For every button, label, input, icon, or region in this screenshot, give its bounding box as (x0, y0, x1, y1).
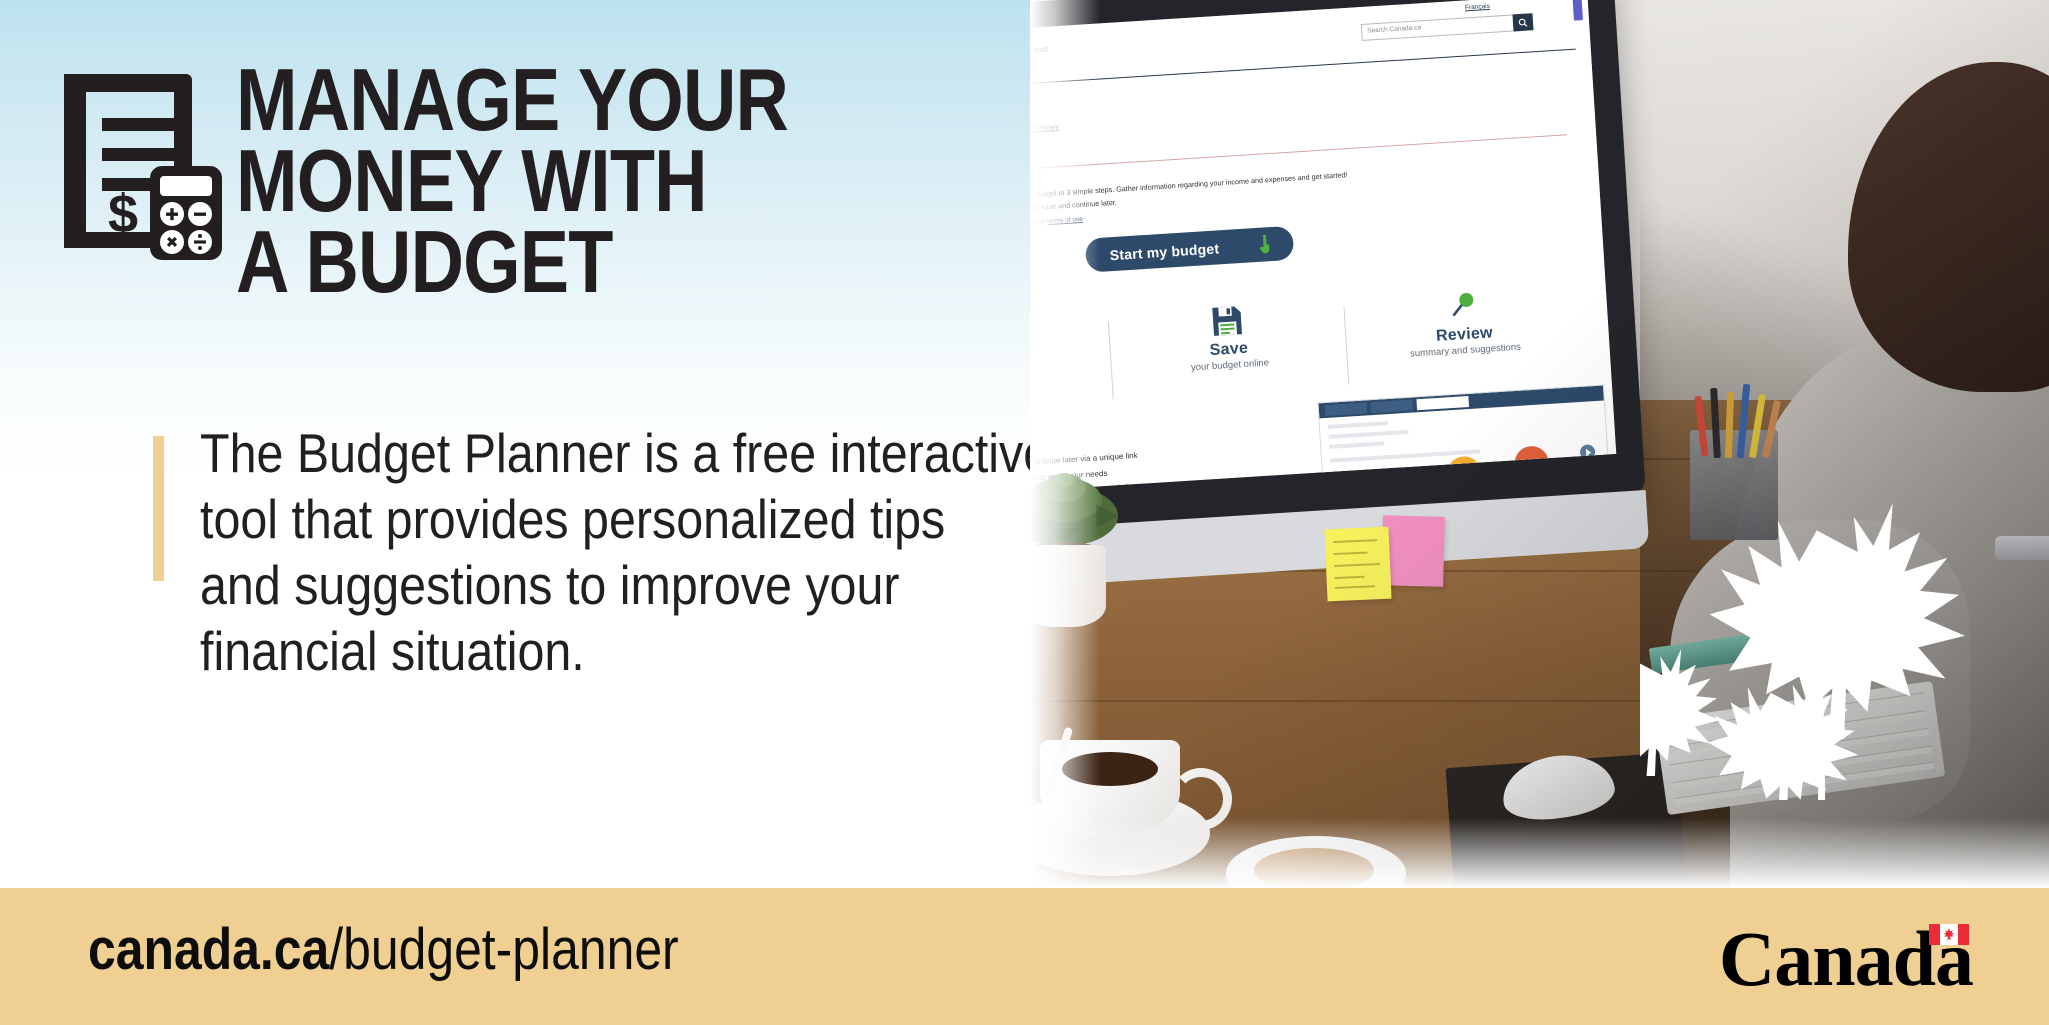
footer-url-path: /budget-planner (329, 917, 678, 982)
canada-flag-icon (1929, 924, 1969, 945)
accent-bar (153, 436, 164, 581)
poster-canvas: $ MANAGE YOUR MONEY WITH A BUDGET (0, 0, 2049, 1025)
photo-left-fade (1030, 0, 1100, 888)
page-title: MANAGE YOUR MONEY WITH A BUDGET (236, 60, 874, 303)
photo-bottom-fade (1030, 818, 2049, 888)
footer-url[interactable]: canada.ca/budget-planner (88, 921, 679, 979)
footer-url-domain: canada.ca (88, 917, 329, 982)
body-line-4: financial situation. (200, 618, 816, 684)
headline-line-1: MANAGE YOUR (236, 60, 874, 141)
invoice-calculator-icon: $ (56, 66, 246, 261)
body-line-3: and suggestions to improve your (200, 552, 816, 618)
canada-wordmark: Canada (1719, 920, 1973, 992)
body-copy: The Budget Planner is a free interactive… (200, 420, 816, 684)
headline-line-3: A BUDGET (236, 222, 874, 303)
svg-text:$: $ (108, 184, 138, 244)
footer-bar: canada.ca/budget-planner Canada (0, 888, 2049, 1025)
desk-photo: Government of Canada Gouvernement du Can… (1030, 0, 2049, 888)
headline-line-2: MONEY WITH (236, 141, 874, 222)
body-line-2: tool that provides personalized tips (200, 486, 816, 552)
body-line-1: The Budget Planner is a free interactive (200, 420, 816, 486)
photo-vignette (1030, 0, 2049, 888)
